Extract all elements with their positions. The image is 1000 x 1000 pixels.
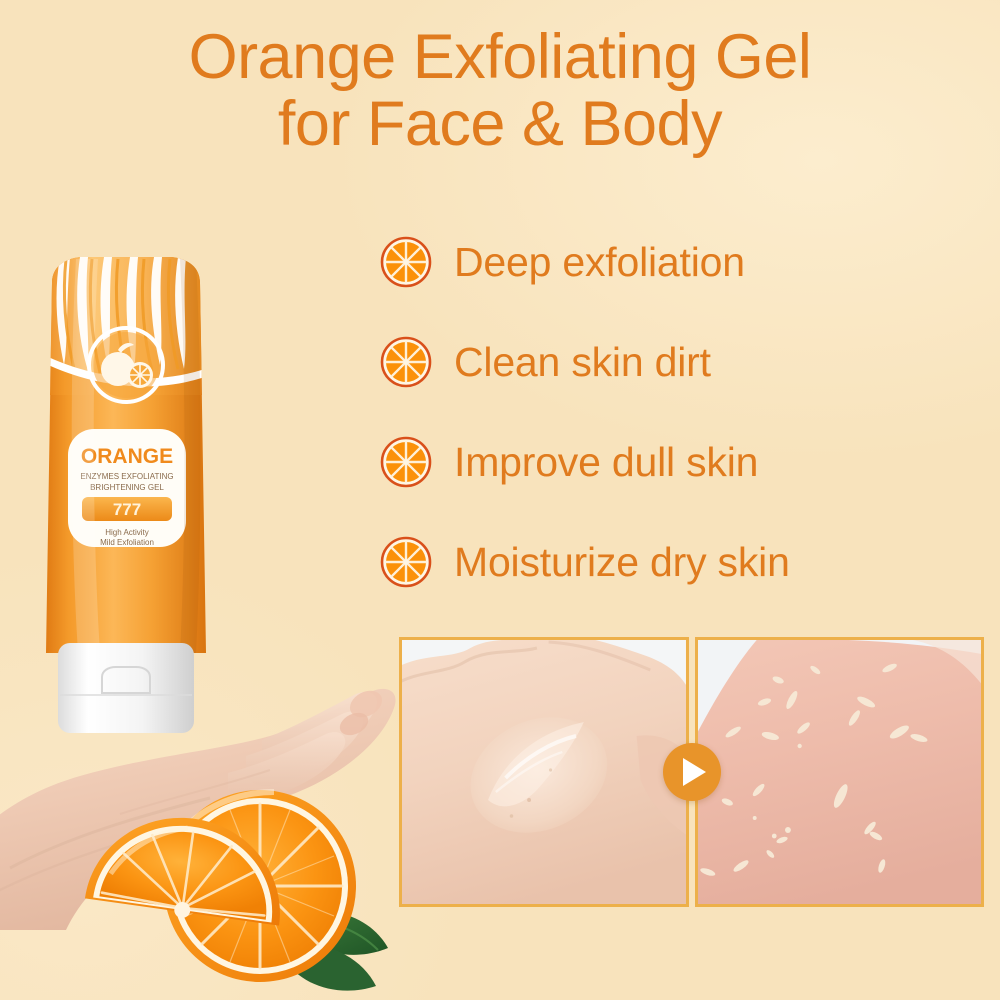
product-brand: ORANGE (81, 445, 173, 468)
list-item: Improve dull skin (380, 412, 1000, 512)
gel-applied-on-hand-photo[interactable] (399, 637, 689, 907)
orange-fruit-decoration (58, 788, 408, 1000)
list-item: Clean skin dirt (380, 312, 1000, 412)
list-item: Deep exfoliation (380, 212, 1000, 312)
exfoliated-skin-flakes-photo[interactable] (695, 637, 985, 907)
orange-slice-icon (380, 436, 432, 488)
play-icon (683, 758, 706, 786)
product-claim-1: High Activity (105, 528, 149, 537)
white-flip-cap (58, 643, 194, 733)
benefit-label: Deep exfoliation (454, 239, 745, 286)
list-item: Moisturize dry skin (380, 512, 1000, 612)
orange-fruit-emblem (89, 328, 163, 402)
play-button[interactable] (663, 743, 721, 801)
benefit-label: Clean skin dirt (454, 339, 711, 386)
benefits-list: Deep exfoliation Clean skin dirt (380, 212, 1000, 612)
benefit-label: Moisturize dry skin (454, 539, 790, 586)
product-claim-2: Mild Exfoliation (100, 538, 154, 547)
product-tube: ORANGE ENZYMES EXFOLIATING BRIGHTENING G… (30, 245, 222, 740)
banner-canvas: Orange Exfoliating Gel for Face & Body D… (0, 0, 1000, 1000)
product-subtitle-1: ENZYMES EXFOLIATING (80, 472, 173, 481)
demo-panels (399, 637, 984, 907)
product-subtitle-2: BRIGHTENING GEL (90, 483, 164, 492)
title-line-2: for Face & Body (0, 91, 1000, 158)
benefit-label: Improve dull skin (454, 439, 758, 486)
orange-slice-icon (380, 236, 432, 288)
orange-slice-icon (380, 336, 432, 388)
title-line-1: Orange Exfoliating Gel (0, 24, 1000, 91)
orange-slice-icon (380, 536, 432, 588)
page-title: Orange Exfoliating Gel for Face & Body (0, 24, 1000, 158)
product-badge: 777 (113, 500, 141, 519)
